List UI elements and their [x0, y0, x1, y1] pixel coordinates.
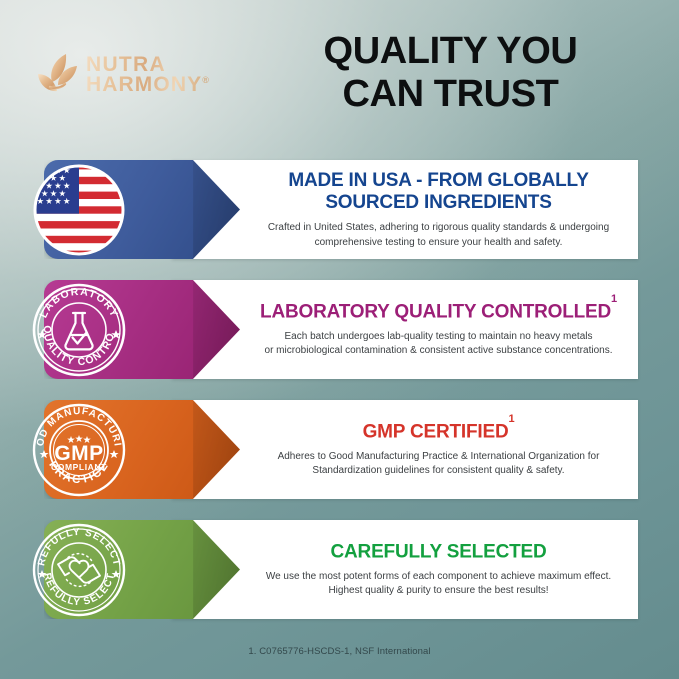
feature-row-made-in-usa: MADE IN USA - FROM GLOBALLY SOURCED INGR…	[0, 152, 679, 267]
feature-description-line1: Each batch undergoes lab-quality testing…	[285, 331, 593, 342]
registered-trademark-icon: ®	[202, 75, 209, 85]
header: NUTRA HARMONY® QUALITY YOU CAN TRUST	[0, 0, 679, 152]
feature-description-line2: Standardization guidelines for consisten…	[312, 465, 564, 476]
feature-title-line2: SOURCED INGREDIENTS	[325, 192, 551, 213]
footnote-marker: 1	[508, 413, 514, 425]
leaf-mark-icon	[36, 52, 78, 98]
feature-description-line2: Highest quality & purity to ensure the b…	[328, 585, 548, 596]
feature-content: GMP CERTIFIED1 Adheres to Good Manufactu…	[248, 420, 629, 478]
brand-name-line2: HARMONY®	[86, 75, 209, 95]
footnote-text: 1. C0765776-HSCDS-1, NSF International	[0, 646, 679, 657]
feature-title-text: CAREFULLY SELECTED	[331, 541, 547, 562]
feature-title-text: GMP CERTIFIED	[363, 421, 509, 442]
feature-title: CAREFULLY SELECTED	[248, 540, 629, 563]
feature-row-laboratory-quality-controlled: LABORATORY QUALITY CONTROL LABORATORY QU…	[0, 272, 679, 387]
feature-description-line1: Crafted in United States, adhering to ri…	[268, 222, 609, 233]
feature-title: LABORATORY QUALITY CONTROLLED1	[248, 300, 629, 323]
feature-description: Each batch undergoes lab-quality testing…	[248, 330, 629, 358]
feature-title: GMP CERTIFIED1	[248, 420, 629, 443]
feature-description: We use the most potent forms of each com…	[248, 570, 629, 598]
laboratory-flask-seal-icon: LABORATORY QUALITY CONTROL	[31, 282, 127, 378]
feature-title-line1: MADE IN USA - FROM GLOBALLY	[288, 169, 588, 190]
page-title-line1: QUALITY YOU	[250, 30, 651, 73]
gmp-compliant-seal-icon: GOOD MANUFACTURING PRACTICE GMP COMPLIAN…	[31, 402, 127, 498]
feature-description: Adheres to Good Manufacturing Practice &…	[248, 450, 629, 478]
footnote-marker: 1	[611, 293, 617, 305]
usa-flag-circle-badge-icon	[31, 162, 127, 258]
page-title-line2: CAN TRUST	[250, 73, 651, 116]
carefully-selected-hands-heart-seal-icon: CAREFULLY SELECTED CAREFULLY SELECTED	[31, 522, 127, 618]
brand-wordmark: NUTRA HARMONY®	[86, 55, 209, 94]
feature-description-line1: Adheres to Good Manufacturing Practice &…	[278, 451, 600, 462]
feature-content: CAREFULLY SELECTED We use the most poten…	[248, 540, 629, 598]
feature-description-line1: We use the most potent forms of each com…	[266, 571, 611, 582]
feature-description-line2: or microbiological contamination & consi…	[265, 345, 613, 356]
page-title: QUALITY YOU CAN TRUST	[250, 30, 651, 115]
svg-text:COMPLIANT: COMPLIANT	[51, 462, 107, 472]
feature-row-carefully-selected: CAREFULLY SELECTED CAREFULLY SELECTED	[0, 512, 679, 627]
feature-content: LABORATORY QUALITY CONTROLLED1 Each batc…	[248, 300, 629, 358]
feature-row-gmp-certified: GOOD MANUFACTURING PRACTICE GMP COMPLIAN…	[0, 392, 679, 507]
brand-logo: NUTRA HARMONY®	[36, 52, 209, 98]
feature-title-text: LABORATORY QUALITY CONTROLLED	[260, 301, 611, 322]
feature-title: MADE IN USA - FROM GLOBALLY SOURCED INGR…	[248, 169, 629, 214]
feature-description-line2: comprehensive testing to ensure your hea…	[315, 236, 563, 247]
feature-content: MADE IN USA - FROM GLOBALLY SOURCED INGR…	[248, 169, 629, 249]
feature-description: Crafted in United States, adhering to ri…	[248, 221, 629, 249]
feature-rows: MADE IN USA - FROM GLOBALLY SOURCED INGR…	[0, 152, 679, 632]
